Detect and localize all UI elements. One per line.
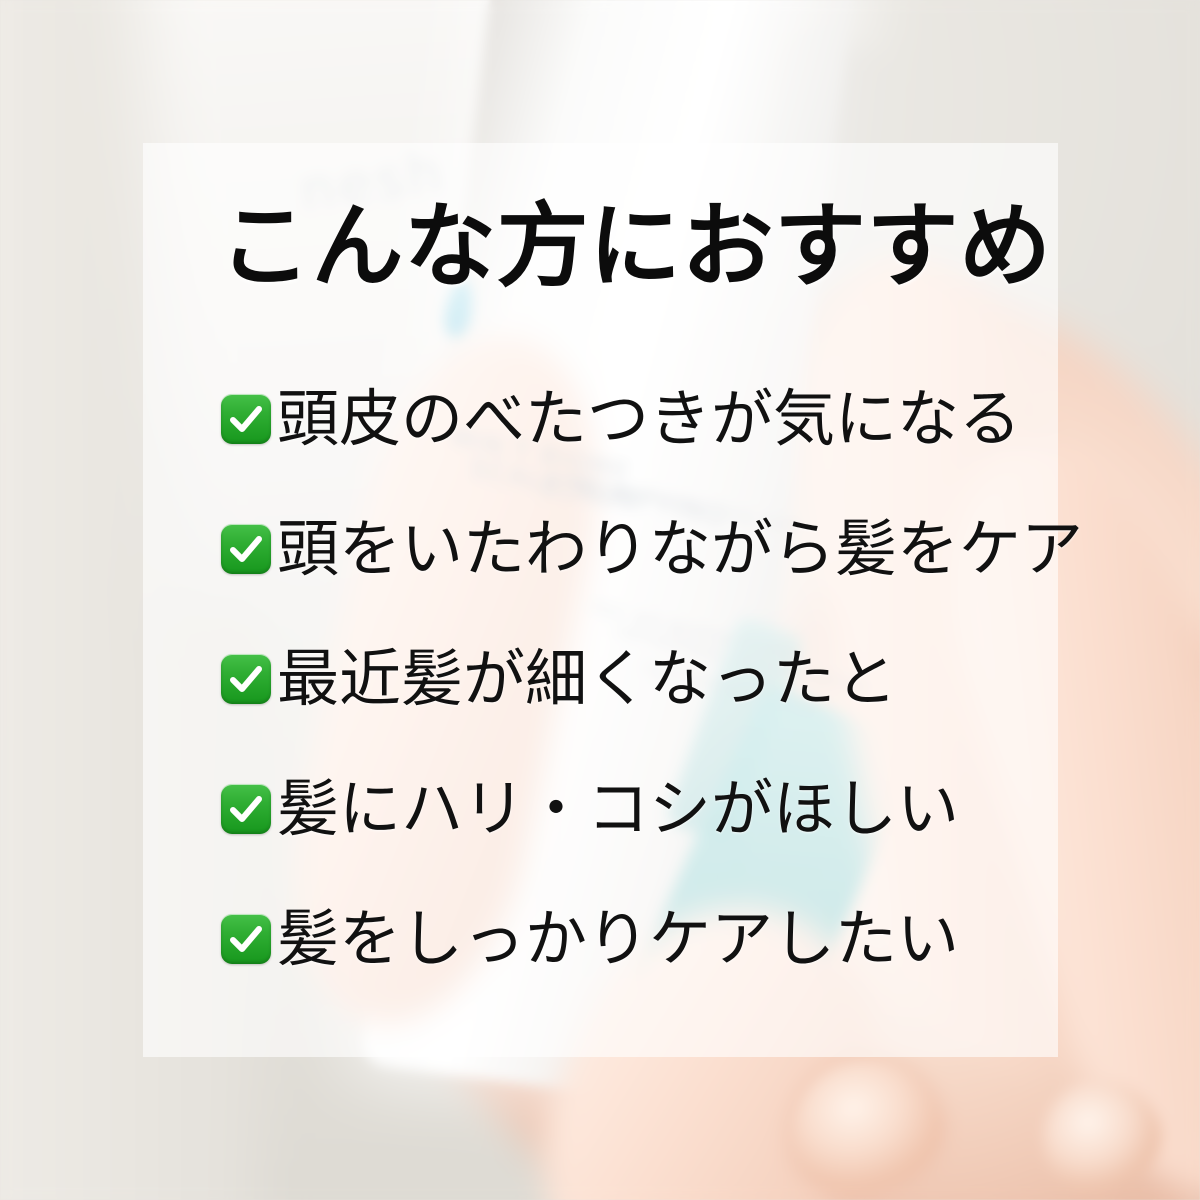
check-mark-icon: [221, 784, 271, 834]
list-item: 頭をいたわりながら髪をケア: [221, 513, 1061, 585]
recommendation-list: 頭皮のべたつきが気になる 頭をいたわりながら髪をケア 最近髪が細くなったと: [221, 383, 1061, 975]
list-item: 頭皮のべたつきが気になる: [221, 383, 1061, 455]
list-item: 髪をしっかりケアしたい: [221, 903, 1061, 975]
panel-content: こんな方におすすめ 頭皮のべたつきが気になる 頭をいたわりながら髪をケア: [143, 143, 1058, 1057]
check-mark-icon: [221, 654, 271, 704]
list-item-label: 頭皮のべたつきが気になる: [277, 388, 1021, 450]
check-mark-icon: [221, 914, 271, 964]
list-item: 最近髪が細くなったと: [221, 643, 1061, 715]
check-mark-icon: [221, 394, 271, 444]
list-item-label: 頭をいたわりながら髪をケア: [277, 518, 1083, 580]
list-item: 髪にハリ・コシがほしい: [221, 773, 1061, 845]
check-mark-icon: [221, 524, 271, 574]
poster-canvas: nesh MIN T BIOME SCALP PURIFYING SCRUB w…: [0, 0, 1200, 1200]
page-title: こんな方におすすめ: [219, 201, 1052, 293]
list-item-label: 髪をしっかりケアしたい: [277, 908, 959, 970]
list-item-label: 髪にハリ・コシがほしい: [277, 778, 959, 840]
list-item-label: 最近髪が細くなったと: [277, 648, 897, 710]
